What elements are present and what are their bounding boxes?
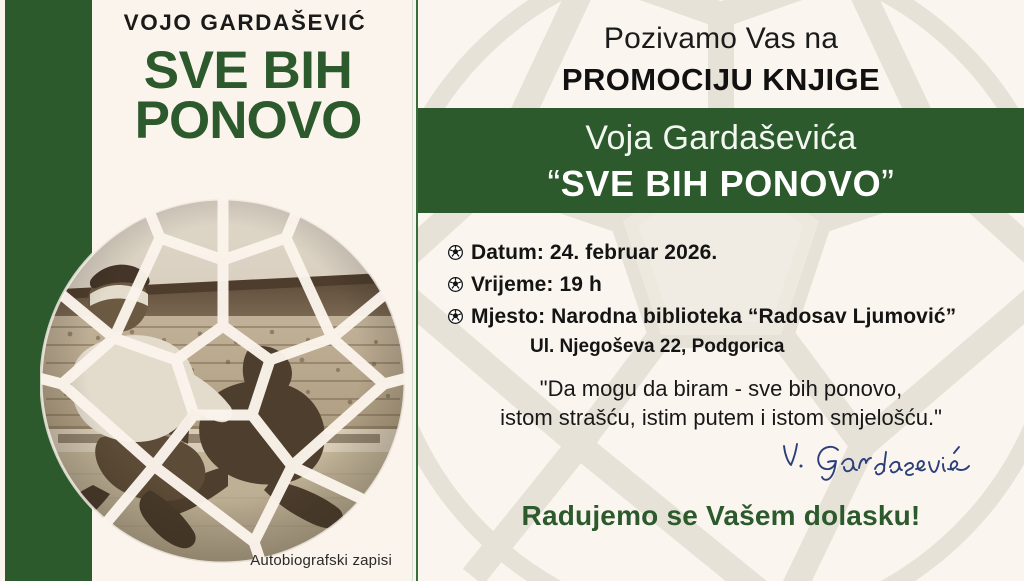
closing-message: Radujemo se Vašem dolasku! [418, 500, 1024, 532]
detail-label-date: Datum: [471, 241, 544, 264]
book-title-line2: PONOVO [92, 96, 404, 146]
detail-value-time: 19 h [559, 273, 601, 296]
detail-row-place: Mjesto: Narodna biblioteka “Radosav Ljum… [448, 304, 1010, 331]
soccer-ball-icon [448, 309, 463, 324]
book-author-name: VOJO GARDAŠEVIĆ [92, 10, 398, 36]
author-quote-line1: "Da mogu da biram - sve bih ponovo, [428, 374, 1014, 403]
detail-row-date: Datum: 24. februar 2026. [448, 240, 1010, 267]
soccer-ball-icon [448, 245, 463, 260]
detail-value-place: Narodna biblioteka “Radosav Ljumović” [551, 305, 956, 328]
author-quote-line2: istom strašću, istim putem i istom smjel… [428, 403, 1014, 432]
detail-text-place: Mjesto: Narodna biblioteka “Radosav Ljum… [471, 304, 956, 331]
event-author-name: Voja Gardaševića [418, 119, 1024, 158]
panel-divider-light [412, 0, 413, 581]
book-title: SVE BIH PONOVO [92, 46, 404, 146]
detail-address: Ul. Njegoševa 22, Podgorica [530, 336, 1010, 358]
book-cover-panel: VOJO GARDAŠEVIĆ SVE BIH PONOVO [0, 0, 416, 581]
invitation-panel: Pozivamo Vas na PROMOCIJU KNJIGE Voja Ga… [418, 0, 1024, 581]
invitation-content: Pozivamo Vas na PROMOCIJU KNJIGE Voja Ga… [418, 0, 1024, 581]
event-book-title-text: SVE BIH PONOVO [561, 163, 881, 204]
author-quote: "Da mogu da biram - sve bih ponovo, isto… [428, 374, 1014, 432]
soccer-ball-icon [448, 277, 463, 292]
author-signature [418, 436, 986, 482]
event-book-title: “SVE BIH PONOVO” [418, 163, 1024, 206]
event-details-list: Datum: 24. februar 2026. Vrijeme: [448, 240, 1010, 358]
detail-text-time: Vrijeme: 19 h [471, 272, 602, 299]
book-cover-face: VOJO GARDAŠEVIĆ SVE BIH PONOVO [92, 0, 412, 581]
invitation-intro-line1: Pozivamo Vas na [418, 22, 1024, 56]
quote-close-mark: ” [881, 163, 894, 205]
poster-root: VOJO GARDAŠEVIĆ SVE BIH PONOVO [0, 0, 1024, 581]
quote-open-mark: “ [548, 163, 561, 205]
detail-label-time: Vrijeme: [471, 273, 554, 296]
detail-text-date: Datum: 24. februar 2026. [471, 240, 717, 267]
invitation-intro-line2: PROMOCIJU KNJIGE [418, 62, 1024, 98]
detail-label-place: Mjesto: [471, 305, 545, 328]
football-photo [40, 198, 406, 564]
book-subtitle-caption: Autobiografski zapisi [250, 552, 392, 569]
detail-row-time: Vrijeme: 19 h [448, 272, 1010, 299]
detail-value-date: 24. februar 2026. [550, 241, 717, 264]
